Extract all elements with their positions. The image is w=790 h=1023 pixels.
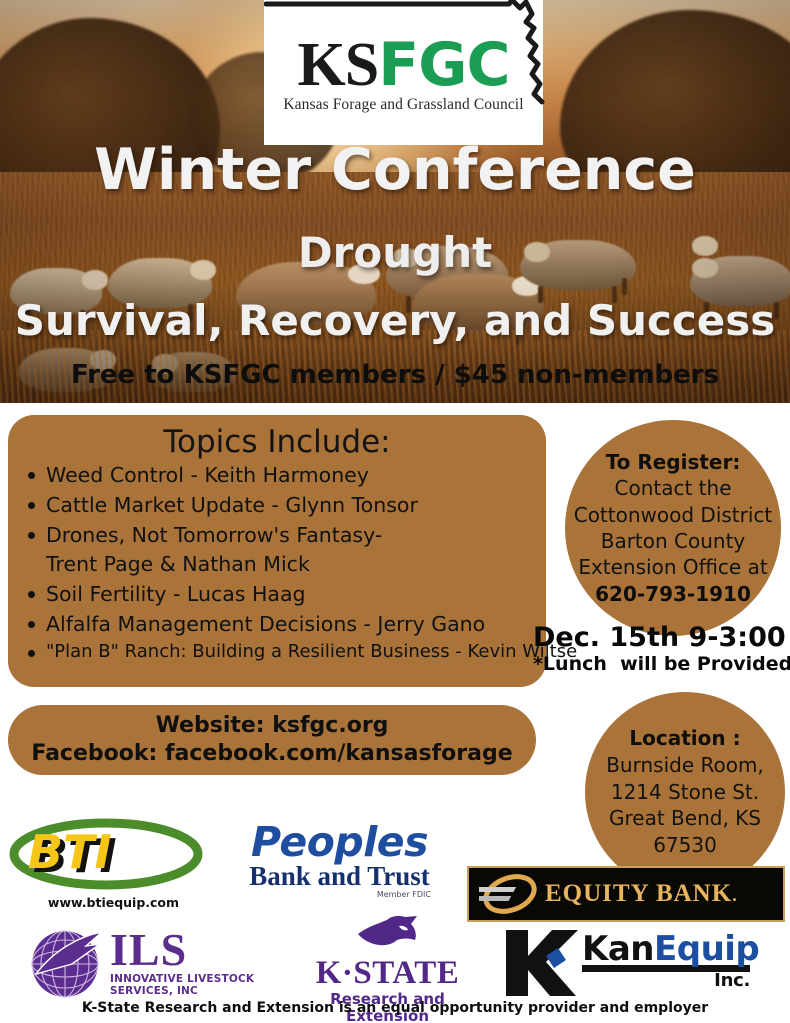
ils-logo: ILS INNOVATIVE LIVESTOCK SERVICES, INC xyxy=(28,924,290,1002)
bti-logo: BTI BTI www.btiequip.com xyxy=(6,818,221,918)
equity-suffix: . xyxy=(732,885,738,905)
lunch-note: *Lunch will be Provided xyxy=(533,654,790,676)
kanequip-logo: KanEquip Inc. xyxy=(500,926,765,1004)
kstate-logo: K·STATE Research and Extension xyxy=(300,914,475,1006)
hero-subtitle-tagline: Survival, Recovery, and Success xyxy=(0,300,790,342)
peoples-wordmark: Peoples xyxy=(232,822,447,863)
register-line-4: Extension Office at xyxy=(578,554,767,580)
register-circle: To Register: Contact the Cottonwood Dist… xyxy=(565,420,781,636)
eeo-footer-text: K-State Research and Extension is an equ… xyxy=(0,1000,790,1016)
register-phone[interactable]: 620-793-1910 xyxy=(595,581,751,607)
website-link[interactable]: Website: ksfgc.org xyxy=(156,712,389,740)
equity-swoosh-icon xyxy=(479,874,541,914)
logo-subtitle: Kansas Forage and Grassland Council xyxy=(283,96,523,114)
ils-globe-icon xyxy=(28,924,106,1002)
logo-fgc-text: FGC xyxy=(378,38,509,93)
links-panel: Website: ksfgc.org Facebook: facebook.co… xyxy=(8,705,536,775)
equity-name: EQUITY BANK xyxy=(545,880,732,907)
equity-wordmark: EQUITY BANK. xyxy=(545,880,738,908)
bti-url[interactable]: www.btiequip.com xyxy=(6,895,221,910)
list-item: Cattle Market Update - Glynn Tonsor xyxy=(22,491,540,521)
ils-abbreviation: ILS xyxy=(110,928,290,972)
register-line-2: Cottonwood District xyxy=(574,502,773,528)
kstate-wordmark: K·STATE xyxy=(300,957,475,990)
register-line-3: Barton County xyxy=(601,528,746,554)
location-heading: Location : xyxy=(629,725,740,752)
peoples-bank-logo: Peoples Bank and Trust Member FDIC xyxy=(232,822,447,917)
list-item: Drones, Not Tomorrow's Fantasy- xyxy=(22,521,540,551)
list-item: Alfalfa Management Decisions - Jerry Gan… xyxy=(22,610,540,640)
poster: Winter Conference Drought Survival, Reco… xyxy=(0,0,790,1023)
svg-text:BTI: BTI xyxy=(28,825,112,879)
hero-pricing-text: Free to KSFGC members / $45 non-members xyxy=(0,362,790,388)
ksfgc-logo: KSFGC Kansas Forage and Grassland Counci… xyxy=(264,0,543,145)
location-line-1: Burnside Room, xyxy=(606,752,764,779)
list-item: "Plan B" Ranch: Building a Resilient Bus… xyxy=(22,639,540,665)
peoples-fdic-note: Member FDIC xyxy=(232,890,447,899)
page-title: Winter Conference xyxy=(0,142,790,199)
list-item-continuation: Trent Page & Nathan Mick xyxy=(22,550,540,580)
topics-heading: Topics Include: xyxy=(8,425,546,459)
bti-emblem-icon: BTI BTI xyxy=(6,818,221,898)
date-block: Dec. 15th 9-3:00 *Lunch will be Provided xyxy=(533,624,790,676)
ils-full-name: INNOVATIVE LIVESTOCK SERVICES, INC xyxy=(110,973,290,997)
list-item: Soil Fertility - Lucas Haag xyxy=(22,580,540,610)
facebook-link[interactable]: Facebook: facebook.com/kansasforage xyxy=(31,740,512,768)
sponsor-logos: BTI BTI www.btiequip.com Peoples Bank an… xyxy=(0,808,790,1023)
kanequip-part-equip: Equip xyxy=(654,929,759,969)
event-date-time: Dec. 15th 9-3:00 xyxy=(533,624,790,652)
kanequip-k-icon xyxy=(500,926,582,1000)
location-line-2: 1214 Stone St. xyxy=(611,779,759,806)
register-heading: To Register: xyxy=(606,449,741,475)
kanequip-inc: Inc. xyxy=(582,970,750,991)
logo-ks-text: KS xyxy=(298,37,379,94)
kanequip-part-kan: Kan xyxy=(582,929,654,969)
topics-panel: Topics Include: Weed Control - Keith Har… xyxy=(8,415,546,687)
hero-subtitle-drought: Drought xyxy=(0,232,790,274)
topics-list: Weed Control - Keith Harmoney Cattle Mar… xyxy=(8,461,546,665)
register-line-1: Contact the xyxy=(615,475,732,501)
powercat-icon xyxy=(355,914,421,950)
list-item: Weed Control - Keith Harmoney xyxy=(22,461,540,491)
equity-bank-logo: EQUITY BANK. xyxy=(467,866,785,922)
peoples-tagline: Bank and Trust xyxy=(232,862,447,890)
